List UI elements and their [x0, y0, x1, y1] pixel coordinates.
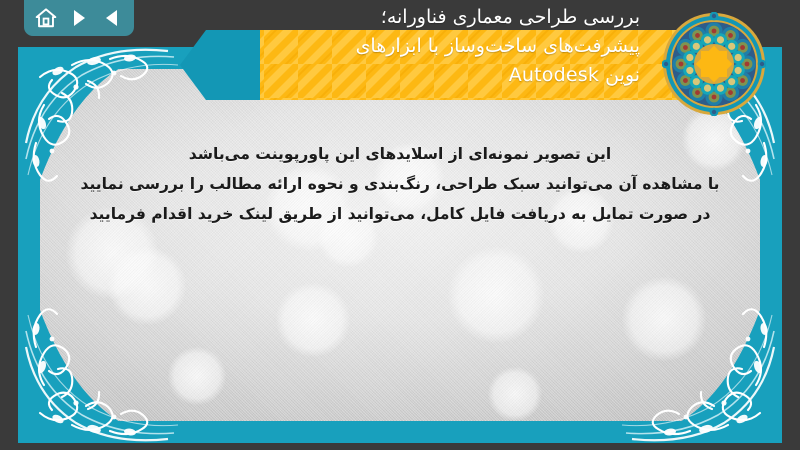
slide-body-text: این تصویر نمونه‌ای از اسلایدهای این پاور…	[18, 139, 782, 230]
body-line: این تصویر نمونه‌ای از اسلایدهای این پاور…	[76, 139, 724, 169]
home-icon	[35, 7, 57, 29]
slide-navigation-bar	[24, 0, 134, 36]
bokeh-circle	[168, 347, 226, 405]
body-line: با مشاهده آن می‌توانید سبک طراحی، رنگ‌بن…	[76, 169, 724, 199]
bokeh-circle	[448, 247, 544, 343]
triangle-left-icon	[103, 8, 121, 28]
slide-title: بررسی طراحی معماری فناورانه؛ پیشرفت‌های …	[170, 3, 640, 90]
bokeh-circle	[276, 283, 350, 357]
home-button[interactable]	[32, 4, 60, 32]
bokeh-circle	[108, 247, 186, 325]
next-slide-button[interactable]	[65, 4, 93, 32]
bokeh-circle	[622, 277, 706, 361]
body-line: در صورت تمایل به دریافت فایل کامل، می‌تو…	[76, 199, 724, 229]
triangle-right-icon	[70, 8, 88, 28]
persian-medallion-ornament	[662, 12, 766, 116]
slide-title-banner: بررسی طراحی معماری فناورانه؛ پیشرفت‌های …	[162, 30, 732, 100]
presentation-viewer: این تصویر نمونه‌ای از اسلایدهای این پاور…	[0, 0, 800, 450]
previous-slide-button[interactable]	[98, 4, 126, 32]
bokeh-circle	[488, 367, 542, 421]
